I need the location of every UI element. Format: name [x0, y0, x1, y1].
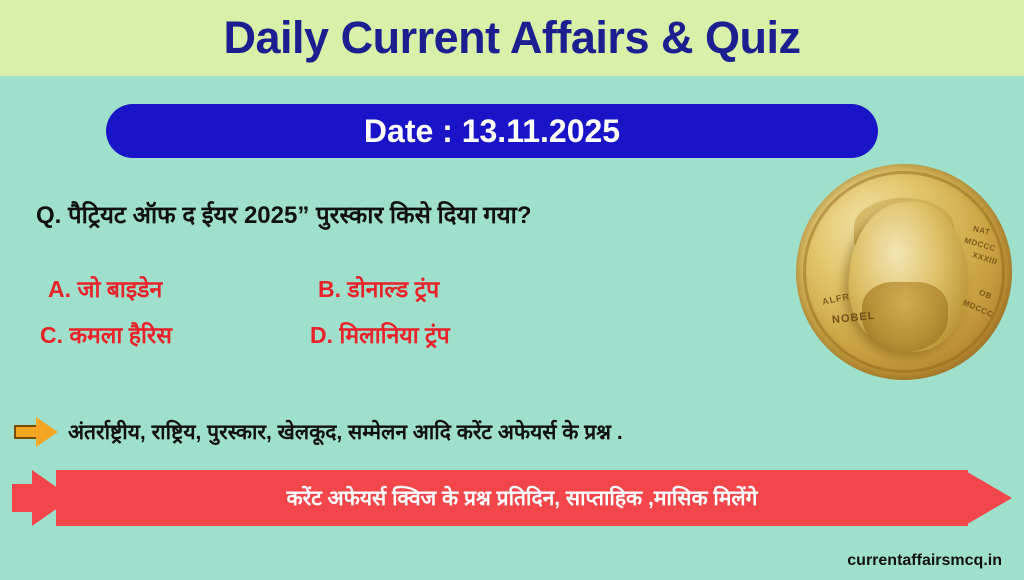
quiz-option-c[interactable]: C. कमला हैरिस: [40, 318, 310, 350]
quiz-options-row-1: A. जो बाइडेन B. डोनाल्ड ट्रंप: [40, 272, 780, 304]
date-badge: Date : 13.11.2025: [106, 104, 878, 158]
quiz-option-a[interactable]: A. जो बाइडेन: [40, 272, 318, 304]
quiz-options-row-2: C. कमला हैरिस D. मिलानिया ट्रंप: [40, 318, 780, 350]
quiz-question: Q. पैट्रियट ऑफ द ईयर 2025” पुरस्कार किसे…: [36, 200, 796, 231]
quiz-options: A. जो बाइडेन B. डोनाल्ड ट्रंप C. कमला है…: [40, 272, 780, 364]
poster-root: Daily Current Affairs & Quiz Date : 13.1…: [0, 0, 1024, 580]
promo-banner: करेंट अफेयर्स क्विज के प्रश्न प्रतिदिन, …: [12, 470, 1012, 526]
banner-text: करेंट अफेयर्स क्विज के प्रश्न प्रतिदिन, …: [72, 470, 972, 526]
footer-website: currentaffairsmcq.in: [847, 552, 1002, 570]
page-title: Daily Current Affairs & Quiz: [224, 12, 801, 64]
date-badge-label: Date : 13.11.2025: [364, 113, 620, 150]
note-text: अंतर्राष्ट्रीय, राष्ट्रिय, पुरस्कार, खेल…: [68, 418, 623, 446]
nobel-medal-image: ALFR NOBEL NAT MDCCC XXXIII OB MDCCC: [796, 164, 1012, 380]
quiz-option-d[interactable]: D. मिलानिया ट्रंप: [310, 318, 610, 350]
right-arrow-icon: [14, 417, 58, 447]
header-band: Daily Current Affairs & Quiz: [0, 0, 1024, 76]
note-line: अंतर्राष्ट्रीय, राष्ट्रिय, पुरस्कार, खेल…: [14, 410, 1010, 454]
quiz-option-b[interactable]: B. डोनाल्ड ट्रंप: [318, 272, 618, 304]
